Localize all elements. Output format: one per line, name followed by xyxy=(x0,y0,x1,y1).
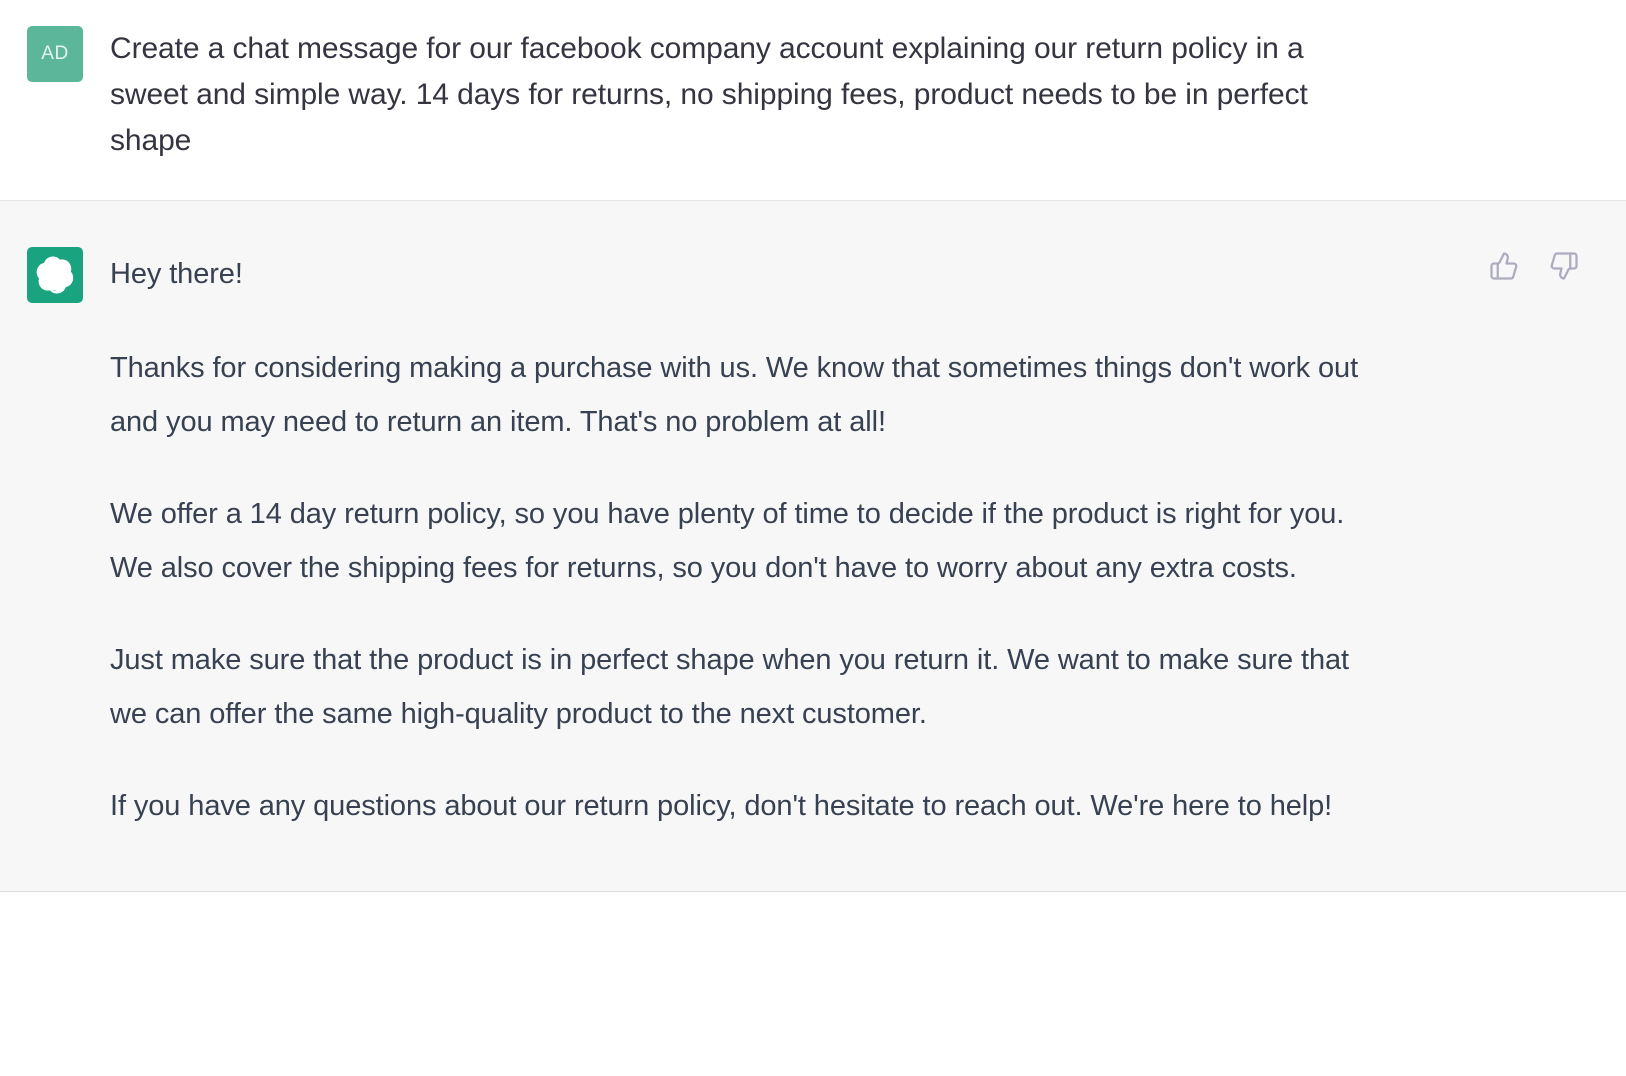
user-prompt-text: Create a chat message for our facebook c… xyxy=(110,26,1355,164)
avatar: AD xyxy=(27,26,83,82)
assistant-answer-text: Hey there! Thanks for considering making… xyxy=(110,247,1406,833)
user-message-row: AD Create a chat message for our faceboo… xyxy=(0,0,1626,201)
assistant-message-inner: Hey there! Thanks for considering making… xyxy=(0,201,1626,891)
user-message-body: Create a chat message for our facebook c… xyxy=(110,26,1626,164)
assistant-paragraph: We offer a 14 day return policy, so you … xyxy=(110,487,1360,595)
assistant-message-body: Hey there! Thanks for considering making… xyxy=(110,247,1626,833)
assistant-message-row: Hey there! Thanks for considering making… xyxy=(0,201,1626,892)
thumbs-down-button[interactable] xyxy=(1547,249,1581,283)
openai-logo-icon xyxy=(36,256,74,294)
thumbs-up-button[interactable] xyxy=(1487,249,1521,283)
assistant-paragraph: If you have any questions about our retu… xyxy=(110,779,1360,833)
user-message-inner: AD Create a chat message for our faceboo… xyxy=(0,0,1626,200)
thumbs-up-icon xyxy=(1489,251,1519,281)
avatar xyxy=(27,247,83,303)
assistant-avatar-cell xyxy=(0,247,110,303)
thumbs-down-icon xyxy=(1549,251,1579,281)
user-avatar-cell: AD xyxy=(0,26,110,82)
assistant-paragraph: Thanks for considering making a purchase… xyxy=(110,341,1360,449)
chat-conversation: AD Create a chat message for our faceboo… xyxy=(0,0,1626,932)
assistant-paragraph: Hey there! xyxy=(110,247,1360,301)
user-avatar-initials: AD xyxy=(41,43,68,65)
message-feedback-actions xyxy=(1487,249,1581,283)
conversation-tail-spacer xyxy=(0,892,1626,932)
assistant-paragraph: Just make sure that the product is in pe… xyxy=(110,633,1360,741)
